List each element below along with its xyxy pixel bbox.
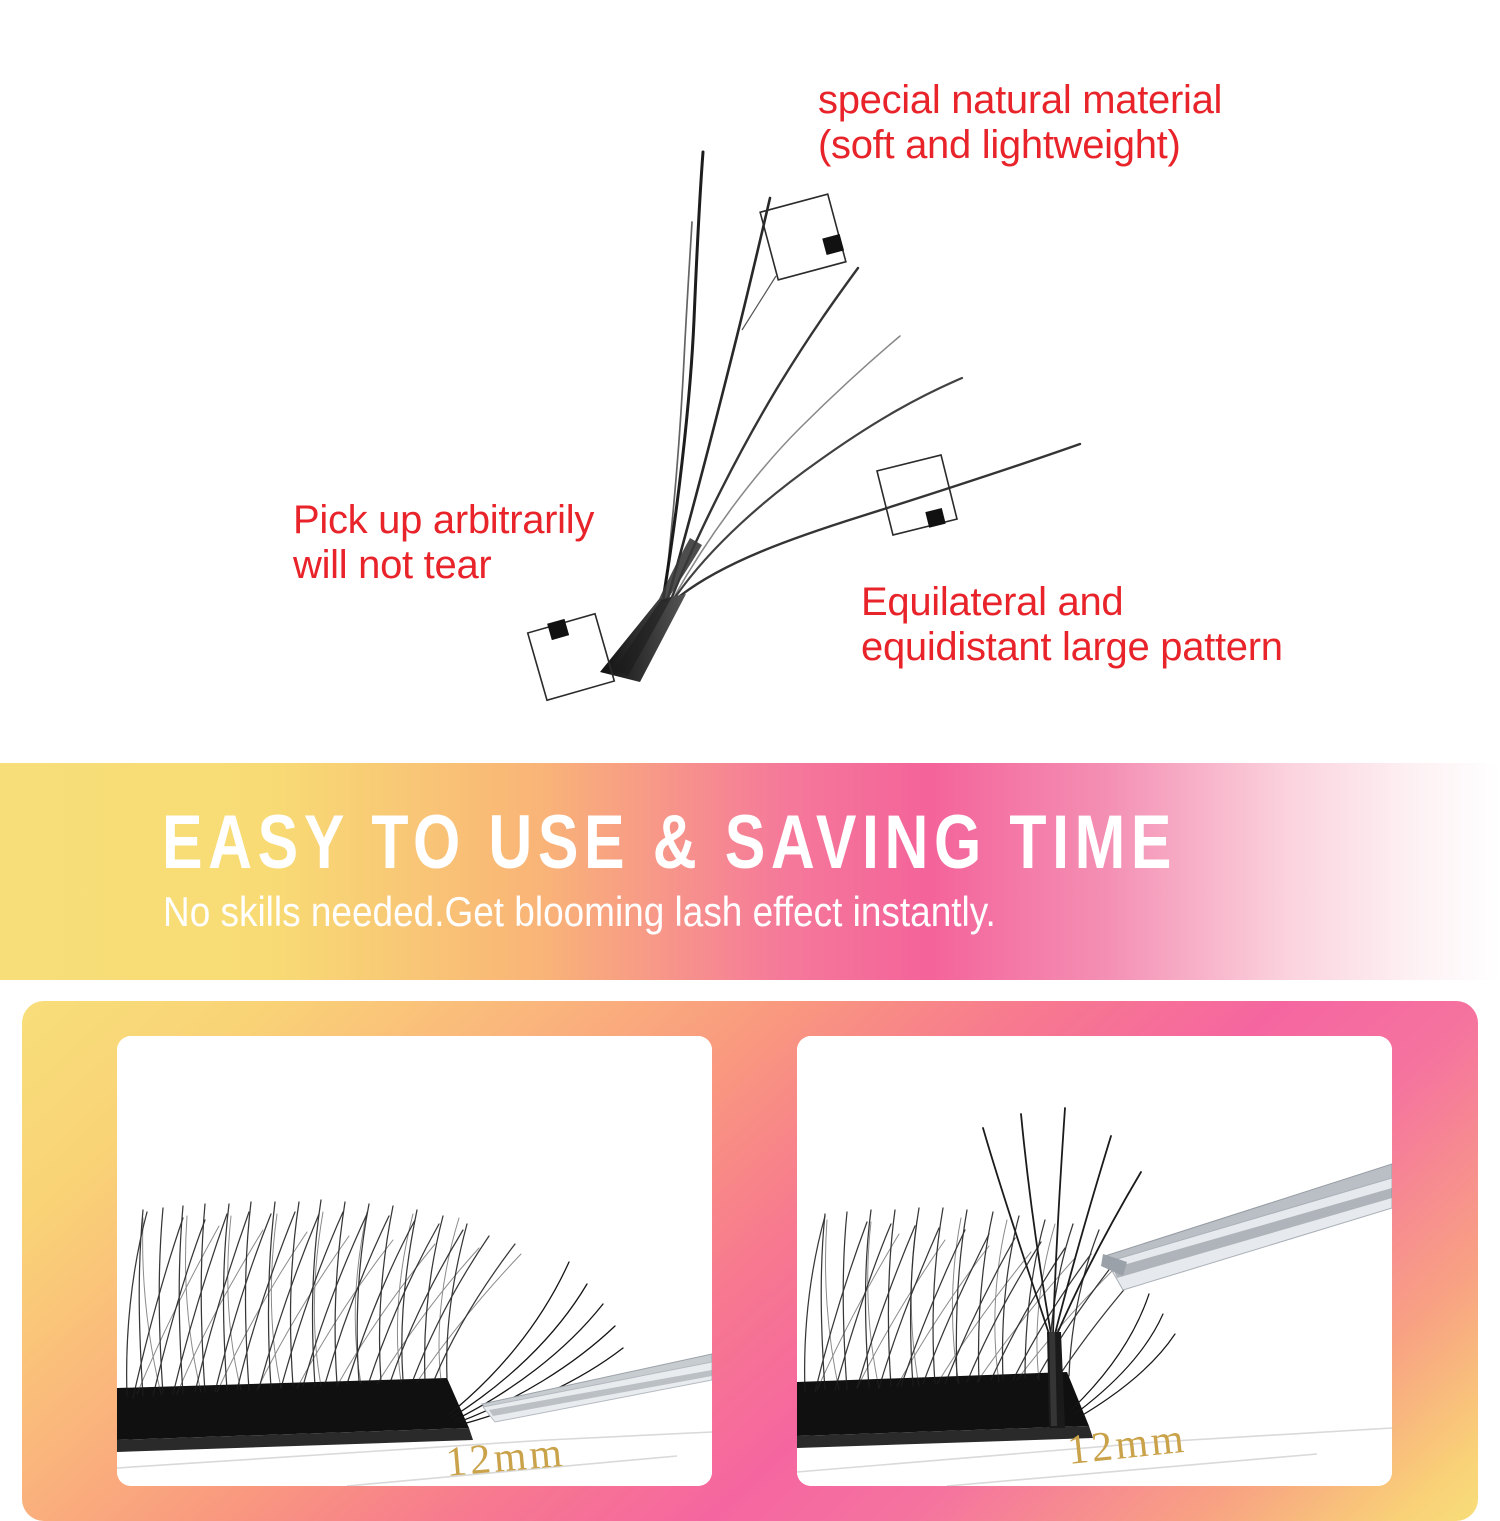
banner-title: EASY TO USE & SAVING TIME [162, 805, 1177, 881]
marker-pattern [877, 455, 957, 535]
callout-equilateral-equidistant: Equilateral and equidistant large patter… [861, 580, 1283, 670]
lash-base [600, 538, 702, 682]
banner-subtitle: No skills needed.Get blooming lash effec… [163, 891, 996, 933]
lash-strip-band [117, 1378, 473, 1452]
photo-card-fan-pickup[interactable]: 12mm [797, 1036, 1392, 1486]
feature-banner: EASY TO USE & SAVING TIME No skills need… [0, 763, 1500, 980]
top-diagram-section: special natural material (soft and light… [0, 0, 1500, 763]
photo-gallery-panel: 12mm [22, 1001, 1478, 1521]
lash-tray-photo: 12mm [117, 1036, 712, 1486]
callout-special-natural-material: special natural material (soft and light… [818, 78, 1222, 168]
marker-material [742, 194, 846, 330]
marker-base [528, 614, 615, 701]
fan-pickup-photo: 12mm [797, 1036, 1392, 1486]
callout-pick-up-arbitrarily: Pick up arbitrarily will not tear [293, 498, 594, 588]
photo-card-lash-tray[interactable]: 12mm [117, 1036, 712, 1486]
lash-fibers [663, 152, 1080, 600]
